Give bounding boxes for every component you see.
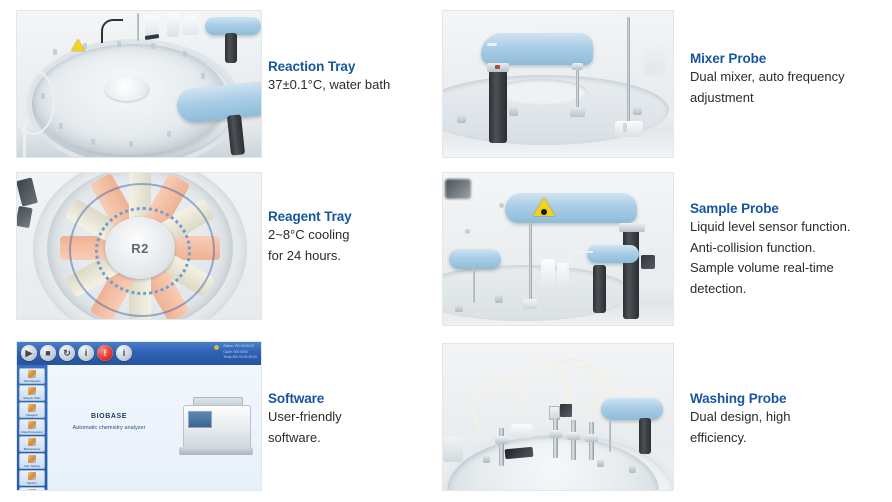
probe-needle (137, 13, 139, 41)
feature-title: Software (268, 390, 444, 407)
wash-nozzle (499, 428, 504, 466)
tubing-line (567, 251, 593, 277)
analyzer-illustration (177, 395, 255, 457)
feature-line: for 24 hours. (268, 246, 444, 267)
reaction-disc-hub (105, 77, 149, 101)
connector-block (641, 255, 655, 269)
caption-reagent-tray: Reagent Tray 2~8°C cooling for 24 hours. (268, 208, 444, 266)
nozzle-collar (585, 434, 598, 442)
probe-post-mid (593, 265, 606, 313)
software-toolbar: ▶ ■ ↻ i ! (17, 342, 261, 366)
feature-title: Sample Probe (690, 200, 890, 217)
sidebar-item-4[interactable]: Data Processing (19, 419, 45, 435)
deck-bolt (483, 456, 490, 463)
cuvette-mark (91, 139, 95, 145)
feature-line: adjustment (690, 88, 890, 109)
wash-rod (627, 17, 630, 129)
sample-probe-photo (442, 172, 674, 326)
mixer-post-back (225, 33, 237, 63)
cuvette-mark (201, 73, 205, 79)
deck-bolt (597, 460, 604, 467)
feature-line: detection. (690, 279, 890, 300)
reagent-tray-photo: R2 (16, 172, 262, 320)
run-icon[interactable]: ▶ (21, 345, 37, 361)
deck-bolt (629, 466, 636, 473)
feature-line: Dual mixer, auto frequency (690, 67, 890, 88)
status-line: Status: ON 00:00:00 (223, 344, 257, 350)
toolbar-status-block: Status: ON 00:00:00 Cycle: 000 0000 Temp… (223, 344, 257, 361)
wash-station (615, 121, 643, 137)
sidebar-item-8[interactable]: QC Procedure (19, 487, 45, 490)
feature-line: 37±0.1°C, water bath (268, 75, 444, 96)
sidebar-item-6[interactable]: Item Setting (19, 453, 45, 469)
info-icon-glyph: i (78, 345, 94, 361)
alarm-icon[interactable]: ! (97, 345, 113, 361)
feature-line: Dual design, high (690, 407, 890, 428)
tubing-line (23, 119, 26, 158)
mixer-probe-photo (442, 10, 674, 158)
analyzer-body (183, 405, 251, 451)
post-indicator (495, 65, 500, 69)
cuvette-mark (151, 43, 155, 49)
tray-nut (509, 107, 518, 116)
analyzer-base (179, 447, 253, 455)
left-fixture (443, 436, 463, 462)
feature-line: User-friendly (268, 407, 444, 428)
feature-title: Reagent Tray (268, 208, 444, 225)
caption-sample-probe: Sample Probe Liquid level sensor functio… (690, 200, 890, 299)
probe-post-right (623, 229, 639, 319)
feature-grid-page: Reaction Tray 37±0.1°C, water bath (0, 0, 892, 502)
probe-post-collar (619, 223, 645, 232)
software-window: ▶ ■ ↻ i ! (17, 342, 261, 490)
feature-cell-reagent-tray: R2 Reagent Tray 2~8°C cooling for 24 hou… (0, 168, 446, 335)
washing-probe-arm (601, 398, 663, 420)
sidebar-item-7[interactable]: Monitor (19, 470, 45, 486)
mixer-arm-secondary (587, 245, 639, 263)
cuvette-mark (53, 49, 57, 55)
feature-line: software. (268, 428, 444, 449)
sidebar-item-7-icon (28, 472, 36, 480)
cuvette-mark (167, 131, 171, 137)
left-arm-needle (473, 267, 475, 303)
sidebar-item-5-label: Maintenance (20, 447, 44, 451)
tray-nut (457, 115, 466, 123)
status-line: Temp 000 00.00 00.00 (223, 355, 257, 361)
stirrer-collar (572, 63, 583, 70)
sidebar-item-3[interactable]: Reagent (19, 402, 45, 418)
caption-reaction-tray: Reaction Tray 37±0.1°C, water bath (268, 58, 444, 96)
status-indicator-icon (214, 345, 219, 350)
feature-line: 2~8°C cooling (268, 225, 444, 246)
sidebar-item-5-icon (28, 438, 36, 446)
feature-cell-washing-probe: Washing Probe Dual design, high efficien… (446, 335, 892, 502)
sidebar-item-5[interactable]: Maintenance (19, 436, 45, 452)
carousel-hub-ring (95, 207, 191, 295)
stop-icon[interactable]: ■ (40, 345, 56, 361)
reagent-carousel: R2 (47, 172, 233, 320)
feature-cell-software: ▶ ■ ↻ i ! (0, 335, 446, 502)
sidebar-item-4-icon (28, 421, 36, 429)
sidebar-item-6-label: Item Setting (20, 464, 44, 468)
caption-software: Software User-friendly software. (268, 390, 444, 448)
software-brand: BIOBASE (54, 413, 164, 420)
rack-funnel (183, 15, 199, 35)
deck-nut (455, 305, 463, 312)
sidebar-item-6-icon (28, 455, 36, 463)
feature-line: Anti-collision function. (690, 238, 890, 259)
needle-tip-holder (523, 299, 537, 309)
wash-bottle (541, 259, 555, 293)
sidebar-item-2-label: Sample Table (20, 396, 44, 400)
sidebar-item-3-label: Reagent (20, 413, 44, 417)
refresh-icon-glyph: ↻ (59, 345, 75, 361)
feature-title: Reaction Tray (268, 58, 444, 75)
background-bottle (643, 33, 665, 75)
help-icon-glyph: i (116, 345, 132, 361)
toolbar-icon-group: ▶ ■ ↻ i ! (21, 345, 132, 361)
sidebar-item-1-label: Test Request (20, 379, 44, 383)
analyzer-screen (188, 411, 212, 428)
nozzle-collar (495, 436, 508, 444)
refresh-icon[interactable]: ↻ (59, 345, 75, 361)
feature-title: Mixer Probe (690, 50, 890, 67)
feature-title: Washing Probe (690, 390, 890, 407)
sample-probe-arm (505, 193, 637, 223)
feature-line: efficiency. (690, 428, 890, 449)
deck-nut (495, 295, 503, 303)
sidebar-item-2-icon (28, 387, 36, 395)
feature-cell-mixer-probe: Mixer Probe Dual mixer, auto frequency a… (446, 0, 892, 168)
tray-nut (633, 107, 642, 115)
sidebar-item-7-label: Monitor (20, 481, 44, 485)
panel-screw (465, 229, 470, 234)
feature-line: Liquid level sensor function. (690, 217, 890, 238)
mixer-arm-left (449, 249, 501, 269)
feature-line: Sample volume real-time (690, 258, 890, 279)
sidebar-item-1-icon (28, 370, 36, 378)
nozzle-collar (549, 430, 562, 438)
run-icon-glyph: ▶ (21, 345, 37, 361)
info-icon[interactable]: i (78, 345, 94, 361)
tray-inner-ellipse (495, 79, 587, 105)
feature-cell-reaction-tray: Reaction Tray 37±0.1°C, water bath (0, 0, 446, 168)
panel-screw (499, 203, 504, 208)
biohazard-icon (71, 39, 85, 51)
software-tagline: Automatic chemistry analyzer (50, 425, 168, 431)
software-sidebar: Test Request Sample Table Reagent Data P… (17, 365, 47, 490)
sidebar-item-3-icon (28, 404, 36, 412)
sensor-block (560, 404, 572, 417)
stirrer-base (570, 107, 585, 117)
mixer-arm-detail (487, 43, 497, 46)
sidebar-item-1[interactable]: Test Request (19, 368, 45, 384)
background-fixture (445, 179, 471, 199)
mixer-post (489, 69, 507, 143)
washing-probe-needle (609, 420, 611, 452)
software-screenshot: ▶ ■ ↻ i ! (16, 341, 262, 491)
software-main-panel: BIOBASE Automatic chemistry analyzer (47, 365, 261, 490)
stop-icon-glyph: ■ (40, 345, 56, 361)
washing-probe-post (639, 418, 651, 454)
rack-bottle (167, 13, 179, 37)
hook-tube (101, 19, 123, 43)
cuvette-mark (59, 123, 63, 129)
feature-cell-sample-probe: Sample Probe Liquid level sensor functio… (446, 168, 892, 335)
caption-mixer-probe: Mixer Probe Dual mixer, auto frequency a… (690, 50, 890, 108)
caption-washing-probe: Washing Probe Dual design, high efficien… (690, 390, 890, 448)
sample-needle (529, 223, 532, 307)
cuvette-mark (183, 51, 187, 57)
sidebar-item-2[interactable]: Sample Table (19, 385, 45, 401)
wash-nozzle (553, 418, 558, 458)
reaction-tray-photo (16, 10, 262, 158)
sidebar-item-4-label: Data Processing (20, 430, 44, 434)
help-icon[interactable]: i (116, 345, 132, 361)
washing-probe-photo (442, 343, 674, 491)
wash-station-slot (623, 123, 627, 132)
white-cap (511, 424, 533, 438)
nozzle-collar (567, 432, 580, 440)
alarm-icon-glyph: ! (97, 345, 113, 361)
wash-nozzle (571, 420, 576, 460)
biohazard-symbol (541, 209, 547, 215)
mixer-arm (481, 33, 593, 65)
cuvette-mark (129, 141, 133, 147)
sidebar-item-8-icon (28, 489, 36, 490)
